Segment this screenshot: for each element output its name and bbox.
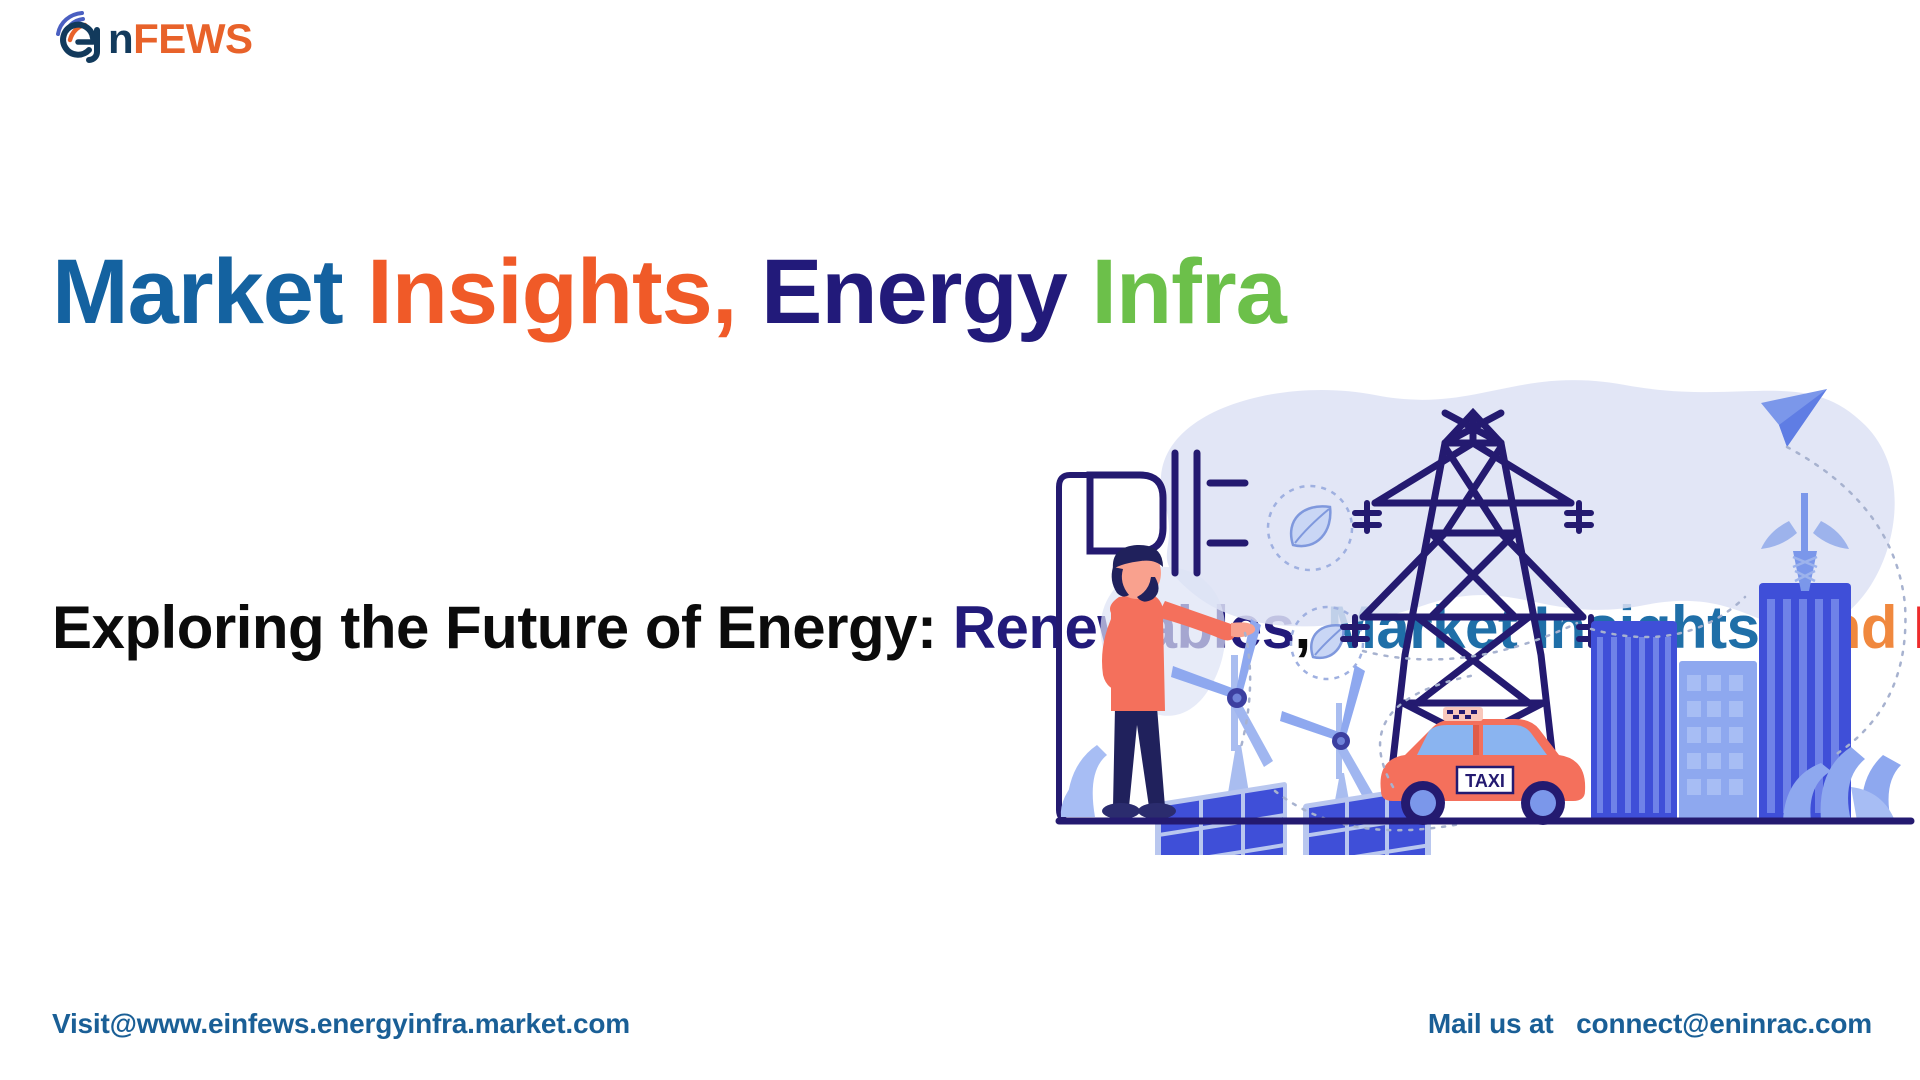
headline-segment-4 [1067, 241, 1092, 343]
headline-segment-0: Market [52, 241, 367, 343]
city-building [1591, 621, 1677, 821]
page-subtitle: Exploring the Future of Energy: Renewabl… [52, 578, 1072, 677]
subhead-segment-0: Exploring the Future of Energy: [52, 594, 953, 661]
footer-website-link[interactable]: Visit@www.einfews.energyinfra.market.com [52, 1008, 630, 1040]
taxi-car: TAXI [1381, 707, 1586, 825]
headline-segment-2: , [712, 241, 761, 343]
plant-leaves-left [1061, 745, 1107, 817]
headline-segment-5: Infra [1091, 241, 1285, 343]
taxi-label: TAXI [1465, 771, 1505, 791]
page-title: Market Insights, Energy Infra [52, 227, 1372, 358]
brand-wordmark: nFEWS [108, 18, 252, 60]
einfews-wave-circle-logo [52, 10, 114, 68]
headline-segment-1: Insights [367, 241, 712, 343]
wordmark-part2: FEWS [133, 15, 252, 62]
energy-infrastructure-illustration: TAXI [1045, 355, 1920, 855]
brand-logo[interactable]: nFEWS [52, 8, 292, 70]
headline-segment-3: Energy [761, 241, 1067, 343]
city-building-2 [1679, 661, 1757, 821]
wind-turbine-2 [1280, 665, 1375, 817]
footer-email-link[interactable]: Mail us at connect@eninrac.com [1428, 1008, 1872, 1040]
